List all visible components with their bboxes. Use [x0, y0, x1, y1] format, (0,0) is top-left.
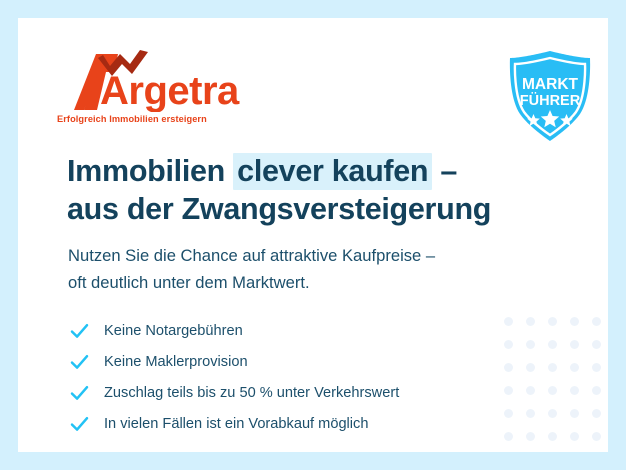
decorative-dot — [592, 317, 601, 326]
decorative-dot — [548, 317, 557, 326]
page-title: Immobilien clever kaufen – aus der Zwang… — [67, 152, 567, 228]
decorative-dot — [548, 340, 557, 349]
check-icon — [70, 385, 89, 402]
svg-text:Argetra: Argetra — [100, 69, 240, 112]
headline-line2: aus der Zwangsversteigerung — [67, 190, 567, 228]
headline-part2: – — [432, 154, 457, 188]
check-icon — [70, 354, 89, 371]
decorative-dot — [548, 432, 557, 441]
shield-icon: MARKT FÜHRER — [502, 48, 598, 144]
check-icon — [70, 323, 89, 340]
logo-mark-icon: Argetra — [56, 46, 256, 112]
logo-tagline: Erfolgreich Immobilien ersteigern — [57, 114, 207, 124]
decorative-dot — [548, 409, 557, 418]
list-item: Keine Maklerprovision — [70, 347, 540, 378]
decorative-dot — [570, 409, 579, 418]
headline-highlight: clever kaufen — [233, 153, 432, 190]
decorative-dot — [592, 363, 601, 372]
list-item: Zuschlag teils bis zu 50 % unter Verkehr… — [70, 378, 540, 409]
list-item: Keine Notargebühren — [70, 316, 540, 347]
subheadline-line1: Nutzen Sie die Chance auf attraktive Kau… — [68, 242, 568, 269]
decorative-dot — [570, 340, 579, 349]
list-item-label: Keine Maklerprovision — [104, 354, 248, 370]
markt-fuehrer-badge: MARKT FÜHRER — [502, 48, 598, 144]
content-card: Argetra Erfolgreich Immobilien ersteiger… — [18, 18, 608, 452]
decorative-dot — [592, 409, 601, 418]
decorative-dot — [592, 340, 601, 349]
decorative-dot — [570, 317, 579, 326]
decorative-dot — [548, 363, 557, 372]
badge-line1: MARKT — [522, 76, 578, 93]
subheadline-line2: oft deutlich unter dem Marktwert. — [68, 269, 568, 296]
decorative-dot — [592, 386, 601, 395]
headline-part1: Immobilien — [67, 154, 233, 188]
promo-banner: Argetra Erfolgreich Immobilien ersteiger… — [0, 0, 626, 470]
badge-line2: FÜHRER — [520, 92, 581, 109]
argetra-logo[interactable]: Argetra Erfolgreich Immobilien ersteiger… — [56, 46, 256, 128]
decorative-dot — [570, 432, 579, 441]
benefits-list: Keine NotargebührenKeine Maklerprovision… — [70, 316, 540, 440]
check-icon — [70, 416, 89, 433]
decorative-dot — [592, 432, 601, 441]
decorative-dot — [570, 363, 579, 372]
decorative-dot — [548, 386, 557, 395]
list-item-label: Keine Notargebühren — [104, 323, 243, 339]
list-item: In vielen Fällen ist ein Vorabkauf mögli… — [70, 409, 540, 440]
subheadline: Nutzen Sie die Chance auf attraktive Kau… — [68, 242, 568, 296]
list-item-label: Zuschlag teils bis zu 50 % unter Verkehr… — [104, 385, 399, 401]
list-item-label: In vielen Fällen ist ein Vorabkauf mögli… — [104, 416, 368, 432]
decorative-dot — [570, 386, 579, 395]
